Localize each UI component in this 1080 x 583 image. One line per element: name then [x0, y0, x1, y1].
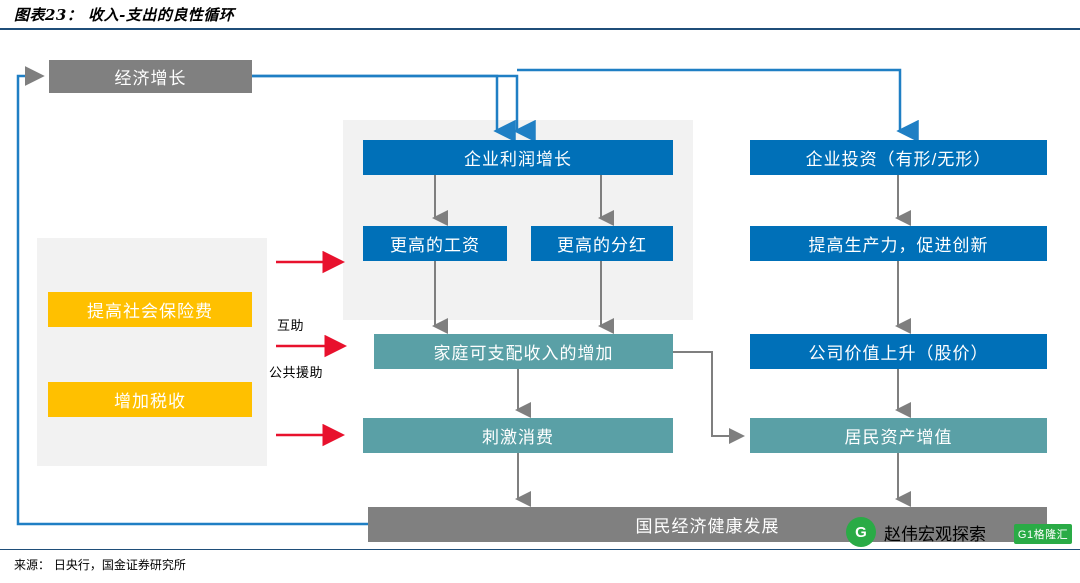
watermark-account: G 赵伟宏观探索	[846, 517, 986, 547]
node-higher-wage[interactable]: 更高的工资	[363, 226, 507, 261]
label-public-aid: 公共援助	[269, 362, 323, 381]
node-corporate-investment[interactable]: 企业投资（有形/无形）	[750, 140, 1047, 175]
node-stimulate-consumption[interactable]: 刺激消费	[363, 418, 673, 453]
source-note: 来源： 日央行，国金证券研究所	[14, 556, 186, 573]
connector-layer	[0, 30, 1080, 549]
node-resident-asset[interactable]: 居民资产增值	[750, 418, 1047, 453]
node-disposable-income[interactable]: 家庭可支配收入的增加	[374, 334, 673, 369]
node-social-insurance[interactable]: 提高社会保险费	[48, 292, 252, 327]
node-increase-tax[interactable]: 增加税收	[48, 382, 252, 417]
node-productivity-innovation[interactable]: 提高生产力，促进创新	[750, 226, 1047, 261]
page-title: 图表23： 收入-支出的良性循环	[14, 4, 234, 25]
node-profit-growth[interactable]: 企业利润增长	[363, 140, 673, 175]
node-firm-value[interactable]: 公司价值上升（股价）	[750, 334, 1047, 369]
diagram-canvas: 经济增长 企业利润增长 更高的工资 更高的分红 家庭可支配收入的增加 刺激消费 …	[0, 30, 1080, 549]
node-econ-growth[interactable]: 经济增长	[49, 60, 252, 93]
label-mutual-aid: 互助	[277, 315, 304, 334]
gelonghui-logo: G1格隆汇	[1014, 524, 1072, 544]
watermark-account-name: 赵伟宏观探索	[884, 520, 986, 545]
title-bar: 图表23： 收入-支出的良性循环	[0, 0, 1080, 30]
node-higher-dividend[interactable]: 更高的分红	[531, 226, 673, 261]
wechat-badge-icon: G	[846, 517, 876, 547]
